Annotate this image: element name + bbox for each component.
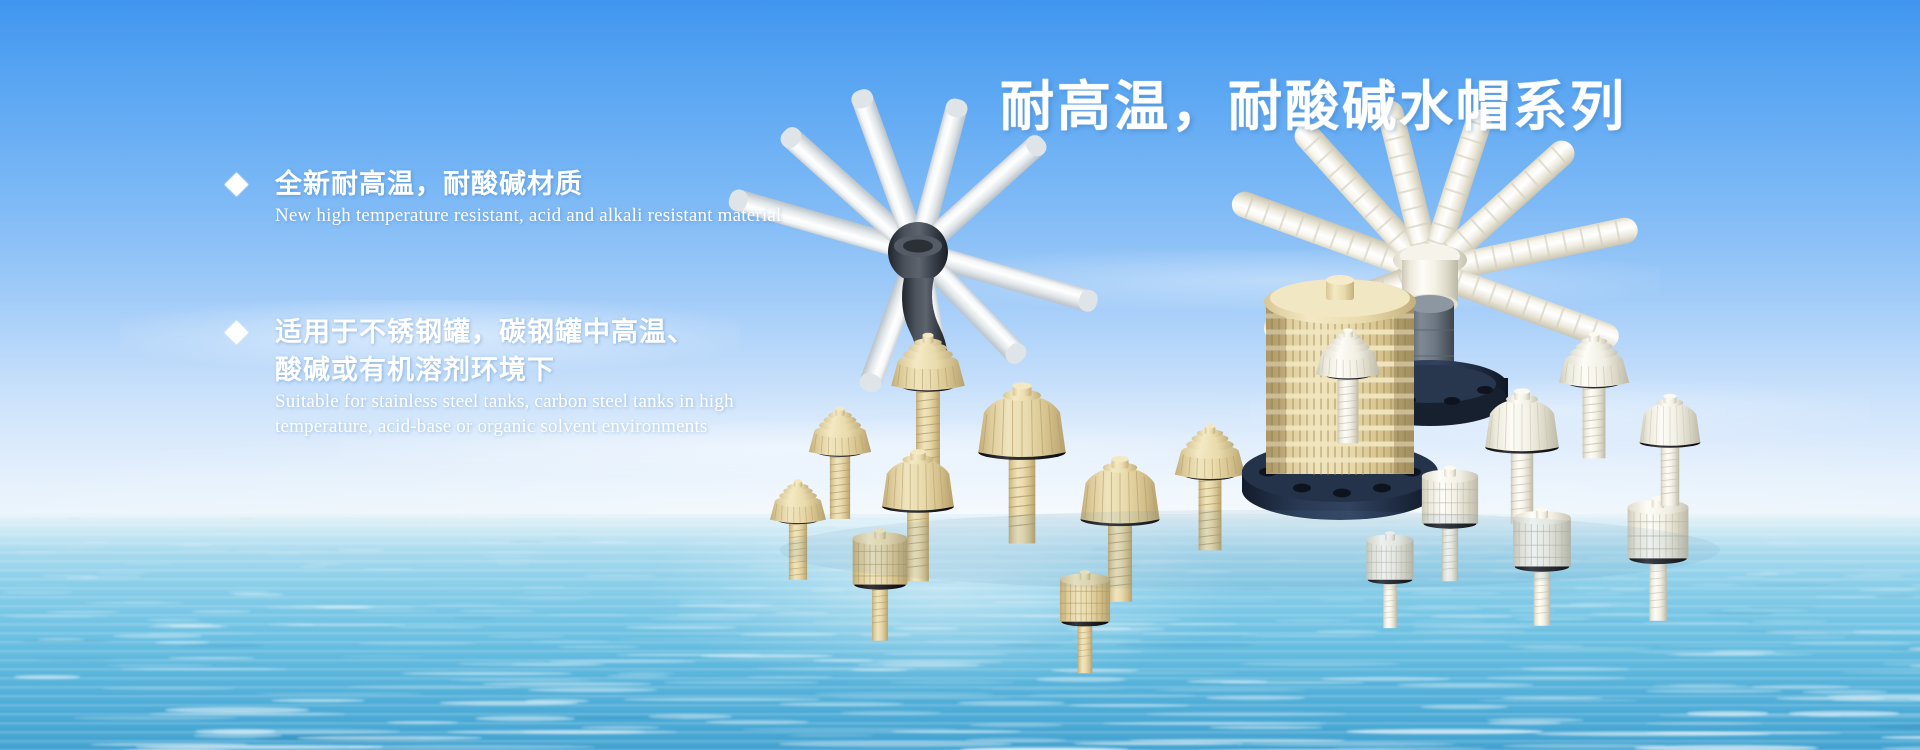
- feature-bullet-1: 全新耐高温，耐酸碱材质 New high temperature resista…: [228, 165, 782, 228]
- feature-2-en-line-1: Suitable for stainless steel tanks, carb…: [275, 389, 734, 414]
- product-banner: 耐高温，耐酸碱水帽系列 全新耐高温，耐酸碱材质 New high tempera…: [0, 0, 1920, 750]
- product-cluster-image: [690, 120, 1920, 650]
- beige-cap-cluster: [770, 333, 1245, 673]
- diamond-bullet-icon: [224, 320, 248, 344]
- feature-1-en-line-1: New high temperature resistant, acid and…: [275, 203, 782, 228]
- feature-2-en-line-2: temperature, acid-base or organic solven…: [275, 414, 734, 439]
- feature-1-cn-line-1: 全新耐高温，耐酸碱材质: [275, 165, 583, 203]
- diamond-bullet-icon: [224, 172, 248, 196]
- feature-2-cn-line-2: 酸碱或有机溶剂环境下: [275, 351, 734, 389]
- feature-bullet-2: 适用于不锈钢罐，碳钢罐中高温、 酸碱或有机溶剂环境下 Suitable for …: [228, 313, 734, 439]
- page-title: 耐高温，耐酸碱水帽系列: [1000, 62, 1627, 141]
- feature-2-cn-line-1: 适用于不锈钢罐，碳钢罐中高温、: [275, 313, 695, 351]
